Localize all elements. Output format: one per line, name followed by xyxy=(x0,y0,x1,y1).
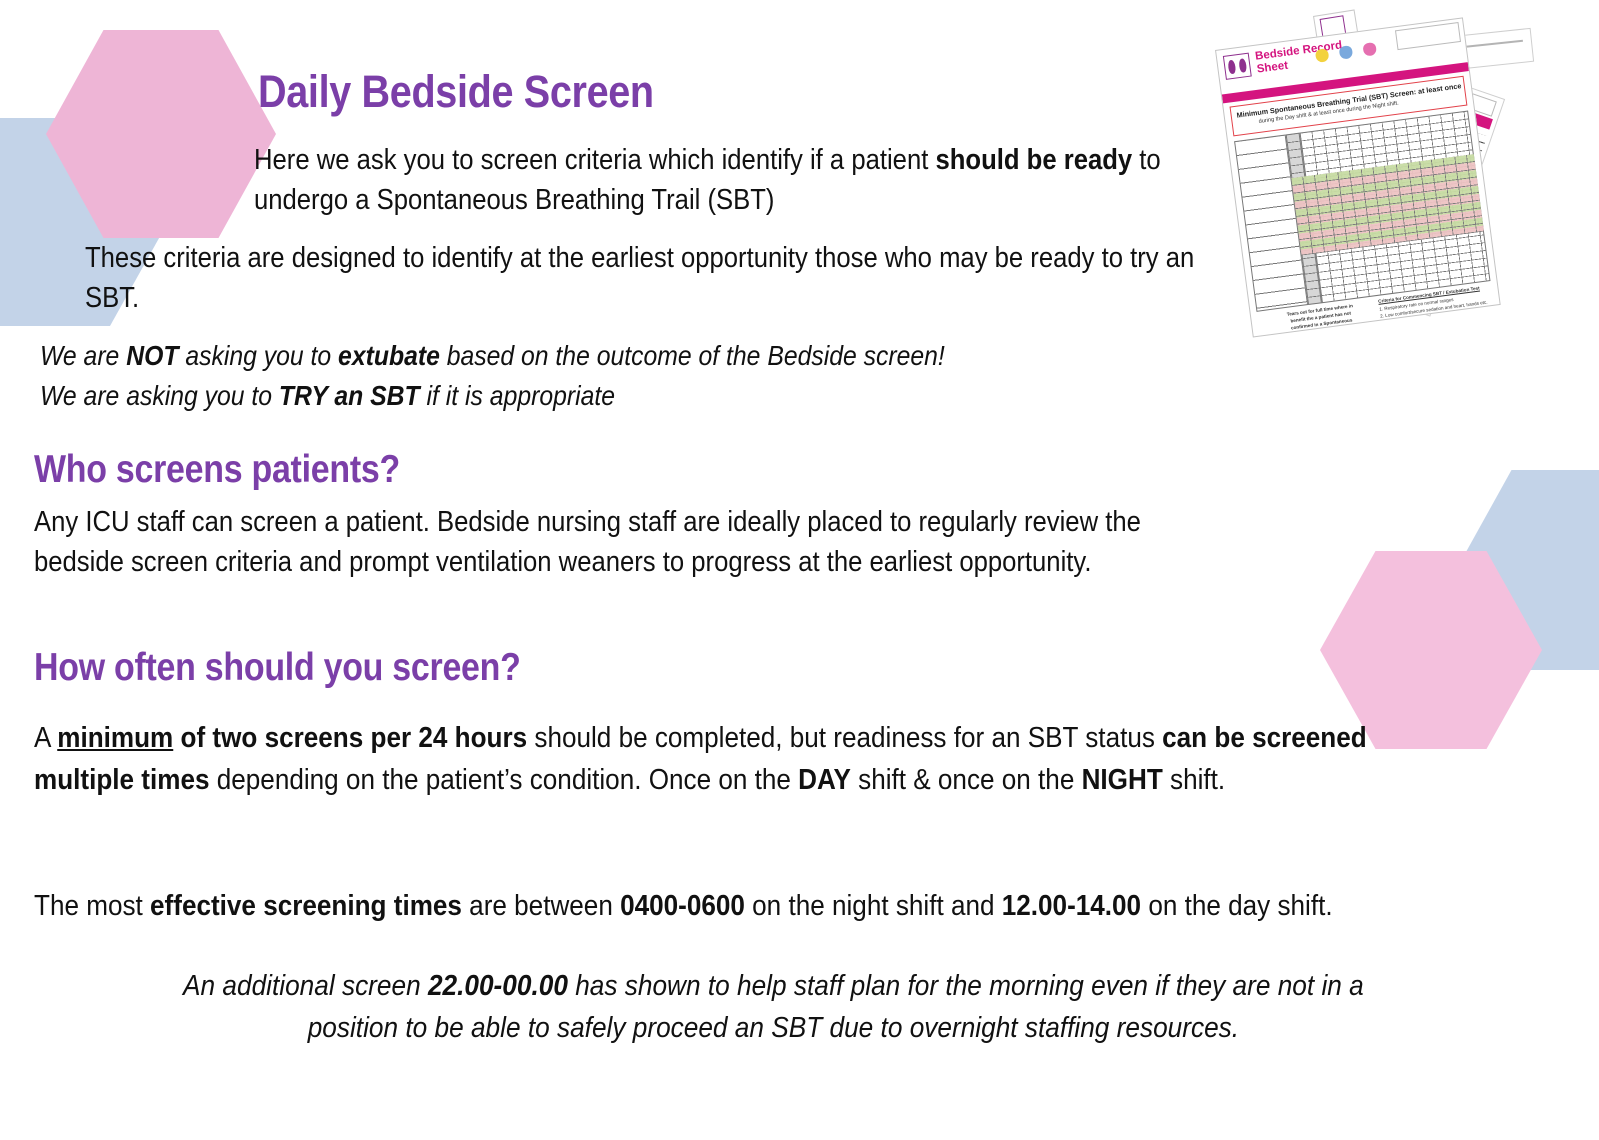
bedside-record-sheet-thumbnail: Bedside Record Sheet Minimum Spontaneous… xyxy=(1215,17,1501,337)
min-j: shift. xyxy=(1163,764,1225,796)
eff-c: are between xyxy=(462,890,620,922)
eff-bold-night-window: 0400-0600 xyxy=(620,890,745,922)
emphasis-block: We are NOT asking you to extubate based … xyxy=(40,336,1318,416)
eff-bold-day-window: 12.00-14.00 xyxy=(1002,890,1141,922)
min-d: should be completed, but readiness for a… xyxy=(527,722,1162,754)
emphasis-l1e: based on the outcome of the Bedside scre… xyxy=(440,340,945,371)
eff-a: The most xyxy=(34,890,150,922)
pink-hand-icon xyxy=(1362,42,1377,57)
min-bold-day: DAY xyxy=(798,764,851,796)
emphasis-l2c: if it is appropriate xyxy=(420,380,615,411)
intro-paragraph: Here we ask you to screen criteria which… xyxy=(254,140,1253,221)
emphasis-try-sbt: TRY an SBT xyxy=(279,380,420,411)
emphasis-l1c: asking you to xyxy=(178,340,338,371)
criteria-item: 5. Cough at the correct strength xyxy=(1383,327,1448,338)
minimum-screens-paragraph: A minimum of two screens per 24 hours sh… xyxy=(34,718,1375,802)
page-title: Daily Bedside Screen xyxy=(258,66,654,118)
heading-who-screens: Who screens patients? xyxy=(34,448,400,492)
eff-g: on the day shift. xyxy=(1141,890,1333,922)
criteria-paragraph: These criteria are designed to identify … xyxy=(85,238,1219,319)
criteria-items: 1. Respiratory rate on normal ranges2. L… xyxy=(1379,297,1488,337)
min-h: shift & once on the xyxy=(851,764,1082,796)
min-underline-minimum: minimum xyxy=(57,722,173,754)
criteria-item: 4. Patient able to be cooperative xyxy=(1382,319,1448,333)
min-f: depending on the patient’s condition. On… xyxy=(210,764,799,796)
who-screens-body: Any ICU staff can screen a patient. Beds… xyxy=(34,502,1204,583)
intro-line-1: Here we ask you to screen criteria which… xyxy=(254,144,935,176)
min-bold-two-screens: of two screens per 24 hours xyxy=(173,722,527,754)
eff-bold-effective-times: effective screening times xyxy=(150,890,462,922)
min-bold-night: NIGHT xyxy=(1082,764,1163,796)
yellow-hand-icon xyxy=(1315,48,1330,63)
emphasis-l2a: We are asking you to xyxy=(40,380,279,411)
intro-bold-ready: should be ready xyxy=(935,144,1132,176)
emphasis-not: NOT xyxy=(126,340,178,371)
criteria-item: 6. Other (please specify slow) xyxy=(1384,334,1445,337)
eff-e: on the night shift and xyxy=(745,890,1002,922)
emphasis-l1a: We are xyxy=(40,340,126,371)
min-a: A xyxy=(34,722,57,754)
additional-screen-paragraph: An additional screen 22.00-00.00 has sho… xyxy=(180,966,1367,1049)
effective-times-paragraph: The most effective screening times are b… xyxy=(34,886,1375,928)
record-sheet-footnote: Tears out for full time where in benefit… xyxy=(1281,302,1366,337)
slide-canvas: Daily Bedside Screen Here we ask you to … xyxy=(0,0,1599,1140)
record-sheet-grid xyxy=(1234,110,1490,311)
lungs-icon xyxy=(1223,53,1252,80)
heading-how-often: How often should you screen? xyxy=(34,646,521,690)
record-sheet-corner-box xyxy=(1395,22,1461,50)
add-bold-window: 22.00-00.00 xyxy=(428,970,568,1002)
document-thumbnail-cluster: Bedside Record Sheet Minimum Spontaneous… xyxy=(1205,14,1535,354)
blue-hand-icon xyxy=(1339,45,1354,60)
blank-card-text-line xyxy=(1463,40,1523,48)
emphasis-extubate: extubate xyxy=(338,340,440,371)
add-a: An additional screen xyxy=(183,970,428,1002)
